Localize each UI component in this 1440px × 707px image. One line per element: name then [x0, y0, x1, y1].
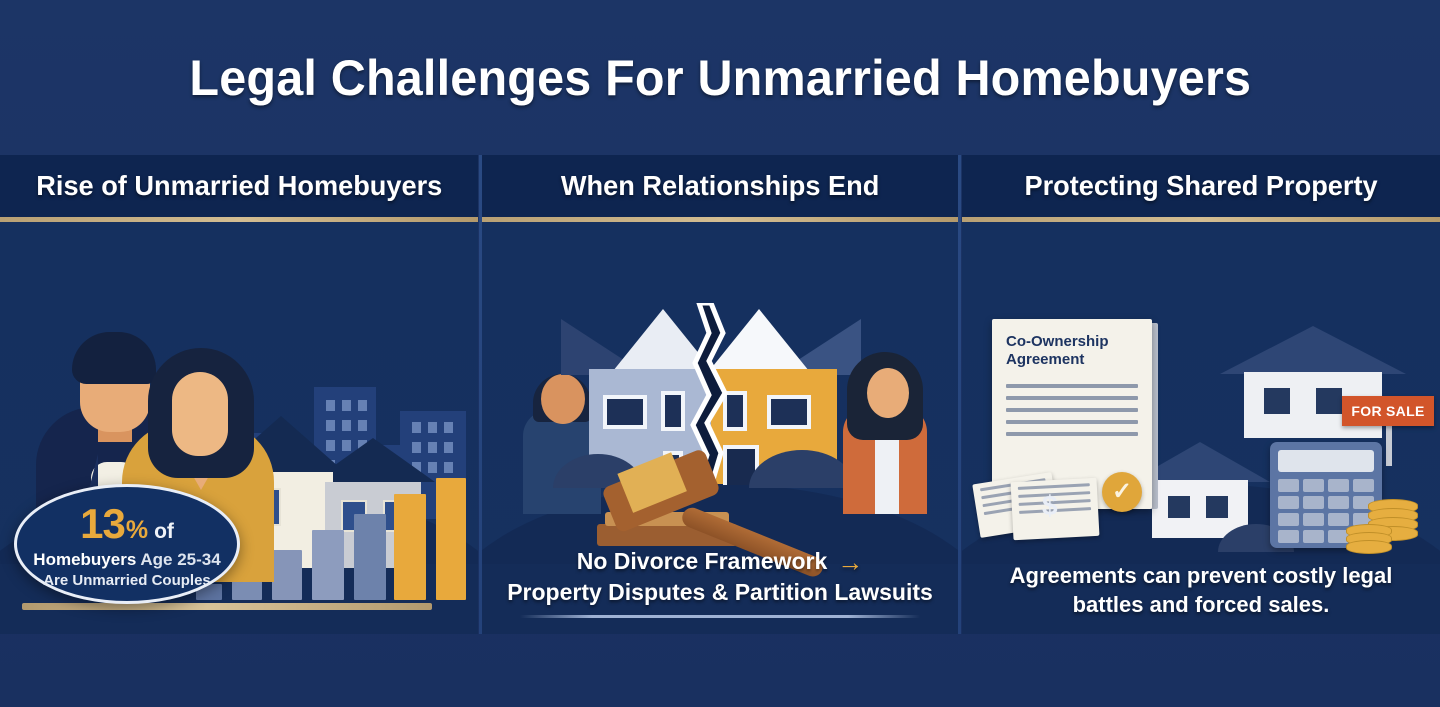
panel-2-header-label: When Relationships End: [561, 170, 879, 202]
calculator-screen: [1278, 450, 1374, 472]
panel-2-caption-rule: [520, 615, 920, 618]
stat-percent-sign: %: [126, 516, 148, 545]
document-stack-icon: Co-Ownership Agreement $: [976, 319, 1196, 534]
chart-baseline-rule: [22, 603, 432, 610]
document-title-line-1: Co-Ownership: [1006, 333, 1138, 351]
infographic-canvas: Legal Challenges For Unmarried Homebuyer…: [0, 0, 1440, 707]
arrow-right-icon: →: [837, 549, 863, 575]
check-seal-icon: ✓: [1102, 472, 1142, 512]
person-right-icon: [837, 354, 933, 514]
panel-3-header-label: Protecting Shared Property: [1024, 170, 1377, 202]
stat-badge: 13 % of Homebuyers Age 25-34 Are Unmarri…: [14, 484, 240, 604]
stat-line2-bold: Homebuyers: [33, 550, 136, 569]
panels-row: Rise of Unmarried Homebuyers: [0, 155, 1440, 634]
panel-1-header: Rise of Unmarried Homebuyers: [0, 155, 478, 217]
stat-number: 13: [80, 500, 125, 548]
panel-when-relationships-end: When Relationships End: [481, 155, 959, 634]
panel-divider-2: [958, 155, 961, 634]
chart-bar: [272, 550, 302, 600]
panel-1-header-label: Rise of Unmarried Homebuyers: [36, 170, 442, 202]
page-title: Legal Challenges For Unmarried Homebuyer…: [189, 49, 1251, 107]
panel-1-body: 13 % of Homebuyers Age 25-34 Are Unmarri…: [0, 217, 478, 634]
stat-line-3: Are Unmarried Couples: [43, 572, 211, 589]
panel-3-caption-line-2: battles and forced sales.: [1073, 590, 1330, 620]
chart-bar: [312, 530, 344, 600]
chart-bar: [354, 514, 386, 600]
stat-line-2: Homebuyers Age 25-34: [33, 550, 220, 570]
coin-stack-icon: [1346, 488, 1420, 554]
panel-3-caption-line-1: Agreements can prevent costly legal: [1010, 561, 1393, 591]
stat-line2-rest: Age 25-34: [140, 550, 220, 569]
caption-text: No Divorce Framework: [577, 548, 828, 575]
panel-3-header: Protecting Shared Property: [962, 155, 1440, 217]
stat-headline: 13 % of: [80, 500, 174, 548]
panel-3-body: FOR SALE: [962, 217, 1440, 634]
gavel-icon: [597, 436, 847, 546]
panel-2-header: When Relationships End: [481, 155, 959, 217]
document-title-line-2: Agreement: [1006, 351, 1138, 369]
title-bar: Legal Challenges For Unmarried Homebuyer…: [0, 0, 1440, 155]
panel-2-caption-line-1: No Divorce Framework →: [577, 548, 864, 575]
for-sale-sign-icon: FOR SALE: [1342, 396, 1434, 426]
dollar-sign-icon: $: [1042, 490, 1058, 522]
panel-protecting-shared-property: Protecting Shared Property FOR SALE: [962, 155, 1440, 634]
stat-of-label: of: [154, 520, 174, 544]
panel-3-caption: Agreements can prevent costly legal batt…: [962, 561, 1440, 620]
panel-divider-1: [479, 155, 482, 634]
panel-2-caption: No Divorce Framework → Property Disputes…: [481, 548, 959, 618]
panel-rise-of-unmarried-homebuyers: Rise of Unmarried Homebuyers: [0, 155, 478, 634]
panel-2-caption-line-2: Property Disputes & Partition Lawsuits: [507, 579, 933, 606]
chart-bar: [394, 494, 426, 600]
panel-2-body: No Divorce Framework → Property Disputes…: [481, 217, 959, 634]
chart-bar: [436, 478, 466, 600]
for-sale-post: [1386, 420, 1392, 466]
